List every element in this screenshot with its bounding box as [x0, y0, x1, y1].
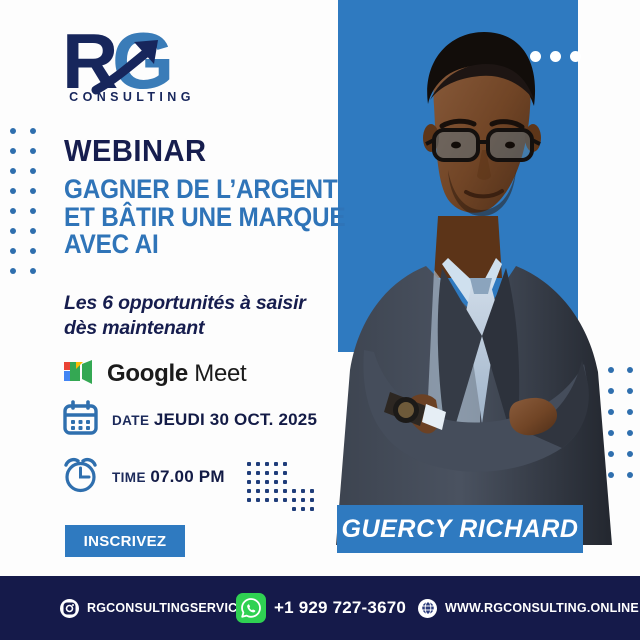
detail-row-time: TIME 07.00 PM: [62, 456, 225, 498]
webinar-poster: GUERCY RICHARD R G CONSULTING WEBINAR GA…: [0, 0, 640, 640]
headline-line-3: AVEC AI: [64, 231, 316, 259]
speaker-name-plate: GUERCY RICHARD: [337, 505, 583, 553]
instagram-handle: RGCONSULTINGSERVICE: [87, 601, 246, 615]
headline-line-1: GAGNER DE L’ARGENT: [64, 176, 316, 204]
time-value: 07.00 PM: [150, 467, 224, 486]
whatsapp-icon: [236, 593, 266, 623]
whatsapp-phone: +1 929 727-3670: [274, 598, 406, 618]
website-url: WWW.RGCONSULTING.ONLINE: [445, 601, 639, 615]
date-label: DATE: [112, 413, 149, 428]
right-dot-grid-decoration: [608, 367, 640, 493]
footer-website[interactable]: WWW.RGCONSULTING.ONLINE: [418, 599, 639, 618]
register-button[interactable]: INSCRIVEZ: [65, 525, 185, 557]
square-dot-pattern-decoration-secondary: [292, 489, 319, 516]
logo-subtitle: CONSULTING: [62, 90, 202, 104]
square-dot-pattern-decoration: [247, 462, 292, 507]
alarm-clock-icon: [62, 456, 99, 498]
left-dot-grid-decoration: [10, 128, 50, 288]
meet-word: Meet: [194, 360, 246, 387]
google-meet-wordmark: Google Meet: [107, 360, 246, 388]
kicker-webinar: WEBINAR: [64, 133, 207, 169]
speaker-portrait: [330, 20, 630, 545]
headline-line-2: ET BÂTIR UNE MARQUE: [64, 204, 316, 232]
google-meet-logo: Google Meet: [62, 358, 246, 390]
register-button-label: INSCRIVEZ: [84, 533, 167, 550]
speaker-name: GUERCY RICHARD: [341, 515, 578, 544]
footer-instagram[interactable]: RGCONSULTINGSERVICE: [60, 599, 246, 618]
detail-row-date: DATE JEUDI 30 OCT. 2025: [62, 399, 317, 441]
contact-footer: RGCONSULTINGSERVICE +1 929 727-3670: [0, 576, 640, 640]
google-word: Google: [107, 360, 188, 387]
subtitle: Les 6 opportunités à saisir dès maintena…: [64, 291, 334, 341]
globe-icon: [418, 599, 437, 618]
instagram-icon: [60, 599, 79, 618]
time-label: TIME: [112, 470, 146, 485]
footer-whatsapp[interactable]: +1 929 727-3670: [236, 593, 406, 623]
date-value: JEUDI 30 OCT. 2025: [154, 410, 317, 429]
headline: GAGNER DE L’ARGENT ET BÂTIR UNE MARQUE A…: [64, 176, 316, 259]
calendar-icon: [62, 399, 99, 441]
google-meet-icon: [62, 358, 96, 390]
